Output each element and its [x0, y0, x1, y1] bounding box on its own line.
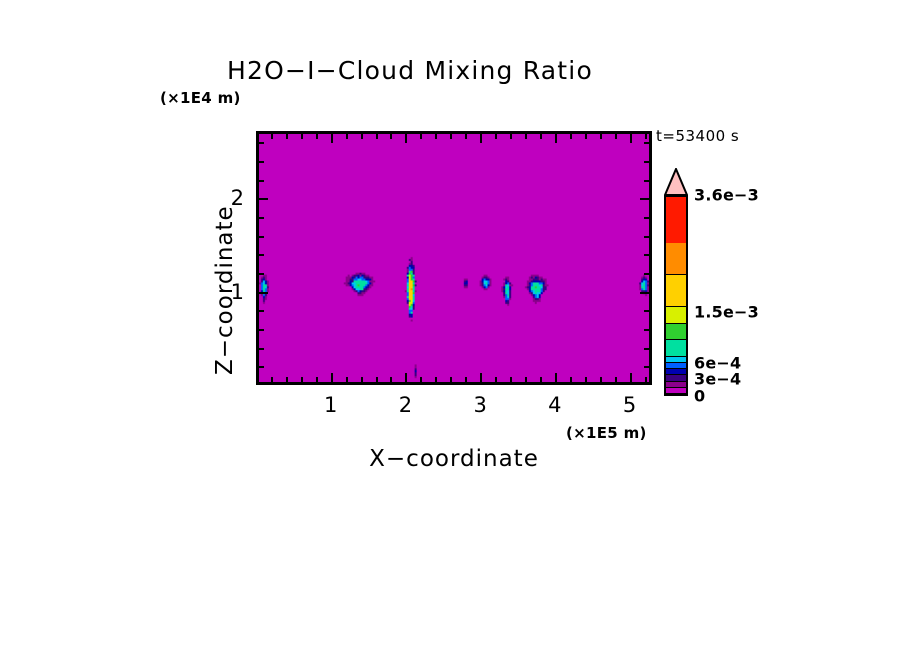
x-tick-top	[540, 133, 542, 139]
x-tick	[510, 377, 512, 383]
x-tick-top	[645, 133, 647, 139]
colorbar-extend-arrow-icon	[664, 168, 688, 196]
x-tick-top	[331, 133, 333, 143]
y-tick-right	[644, 161, 650, 163]
colorbar-segment	[666, 275, 686, 307]
y-tick-right	[640, 198, 650, 200]
x-tick-top	[450, 133, 452, 139]
y-tick	[258, 142, 264, 144]
x-tick	[435, 377, 437, 383]
x-tick	[361, 377, 363, 383]
x-tick	[390, 377, 392, 383]
x-tick	[480, 373, 482, 383]
colorbar	[664, 168, 688, 396]
x-tick	[405, 373, 407, 383]
y-tick	[258, 161, 264, 163]
x-tick	[600, 377, 602, 383]
x-tick	[420, 377, 422, 383]
y-tick-label: 2	[214, 186, 244, 210]
y-tick	[258, 273, 264, 275]
contour-figure: H2O−I−Cloud Mixing Ratio (×1E4 m) t=5340…	[0, 0, 904, 654]
contour-field	[259, 134, 649, 382]
y-tick	[258, 366, 264, 368]
colorbar-segment	[666, 324, 686, 341]
y-tick-right	[644, 180, 650, 182]
x-tick-top	[286, 133, 288, 139]
y-tick	[258, 310, 264, 312]
y-tick-right	[644, 217, 650, 219]
colorbar-segment	[666, 388, 686, 394]
x-tick	[525, 377, 527, 383]
x-tick	[585, 377, 587, 383]
x-tick-top	[465, 133, 467, 139]
x-tick	[316, 377, 318, 383]
x-tick	[555, 373, 557, 383]
y-tick-right	[644, 254, 650, 256]
y-tick-right	[644, 329, 650, 331]
colorbar-gradient	[664, 195, 688, 396]
x-tick-top	[361, 133, 363, 139]
x-tick-label: 3	[473, 393, 486, 417]
x-tick-top	[301, 133, 303, 139]
x-axis-title: X−coordinate	[256, 446, 652, 472]
x-tick-top	[525, 133, 527, 139]
x-tick	[301, 377, 303, 383]
y-tick	[258, 292, 268, 294]
x-tick-label: 4	[548, 393, 561, 417]
x-axis-units-label: (×1E5 m)	[566, 424, 647, 442]
x-tick-top	[600, 133, 602, 139]
x-tick-top	[420, 133, 422, 139]
x-tick	[615, 377, 617, 383]
colorbar-tick-label: 0	[694, 387, 705, 406]
y-tick	[258, 180, 264, 182]
y-tick-right	[644, 273, 650, 275]
x-tick-label: 2	[399, 393, 412, 417]
x-tick	[331, 373, 333, 383]
x-tick	[286, 377, 288, 383]
y-tick-right	[644, 236, 650, 238]
x-tick	[540, 377, 542, 383]
x-tick	[346, 377, 348, 383]
y-tick-label: 1	[214, 280, 244, 304]
page-title: H2O−I−Cloud Mixing Ratio	[0, 56, 862, 85]
x-tick-top	[346, 133, 348, 139]
y-axis-units-label: (×1E4 m)	[160, 89, 241, 107]
colorbar-segment	[666, 340, 686, 357]
colorbar-segment	[666, 243, 686, 275]
y-tick-right	[644, 310, 650, 312]
y-tick	[258, 329, 264, 331]
x-tick-top	[585, 133, 587, 139]
y-tick	[258, 217, 264, 219]
x-tick-top	[480, 133, 482, 143]
x-tick-top	[555, 133, 557, 143]
x-tick-top	[510, 133, 512, 139]
x-tick	[256, 377, 258, 383]
x-tick	[645, 377, 647, 383]
colorbar-segment	[666, 307, 686, 324]
colorbar-segment	[666, 197, 686, 244]
x-tick	[630, 373, 632, 383]
x-tick	[450, 377, 452, 383]
x-tick-label: 1	[324, 393, 337, 417]
plot-area	[256, 131, 652, 385]
x-tick-top	[405, 133, 407, 143]
x-tick-top	[376, 133, 378, 139]
y-tick	[258, 348, 264, 350]
colorbar-tick-label: 1.5e−3	[694, 303, 759, 322]
y-tick-right	[644, 142, 650, 144]
x-tick	[271, 377, 273, 383]
x-tick-top	[570, 133, 572, 139]
y-tick-right	[644, 366, 650, 368]
y-tick	[258, 198, 268, 200]
y-tick	[258, 254, 264, 256]
x-tick-top	[435, 133, 437, 139]
time-annotation: t=53400 s	[656, 127, 739, 145]
x-tick-top	[316, 133, 318, 139]
x-tick-top	[390, 133, 392, 139]
x-tick-label: 5	[623, 393, 636, 417]
colorbar-tick-label: 3.6e−3	[694, 186, 759, 205]
y-tick	[258, 236, 264, 238]
x-tick	[376, 377, 378, 383]
x-tick-top	[256, 133, 258, 139]
x-tick-top	[271, 133, 273, 139]
x-tick-top	[630, 133, 632, 143]
y-tick-right	[640, 292, 650, 294]
x-tick-top	[495, 133, 497, 139]
x-tick	[570, 377, 572, 383]
x-tick	[495, 377, 497, 383]
x-tick	[465, 377, 467, 383]
x-tick-top	[615, 133, 617, 139]
y-tick-right	[644, 348, 650, 350]
